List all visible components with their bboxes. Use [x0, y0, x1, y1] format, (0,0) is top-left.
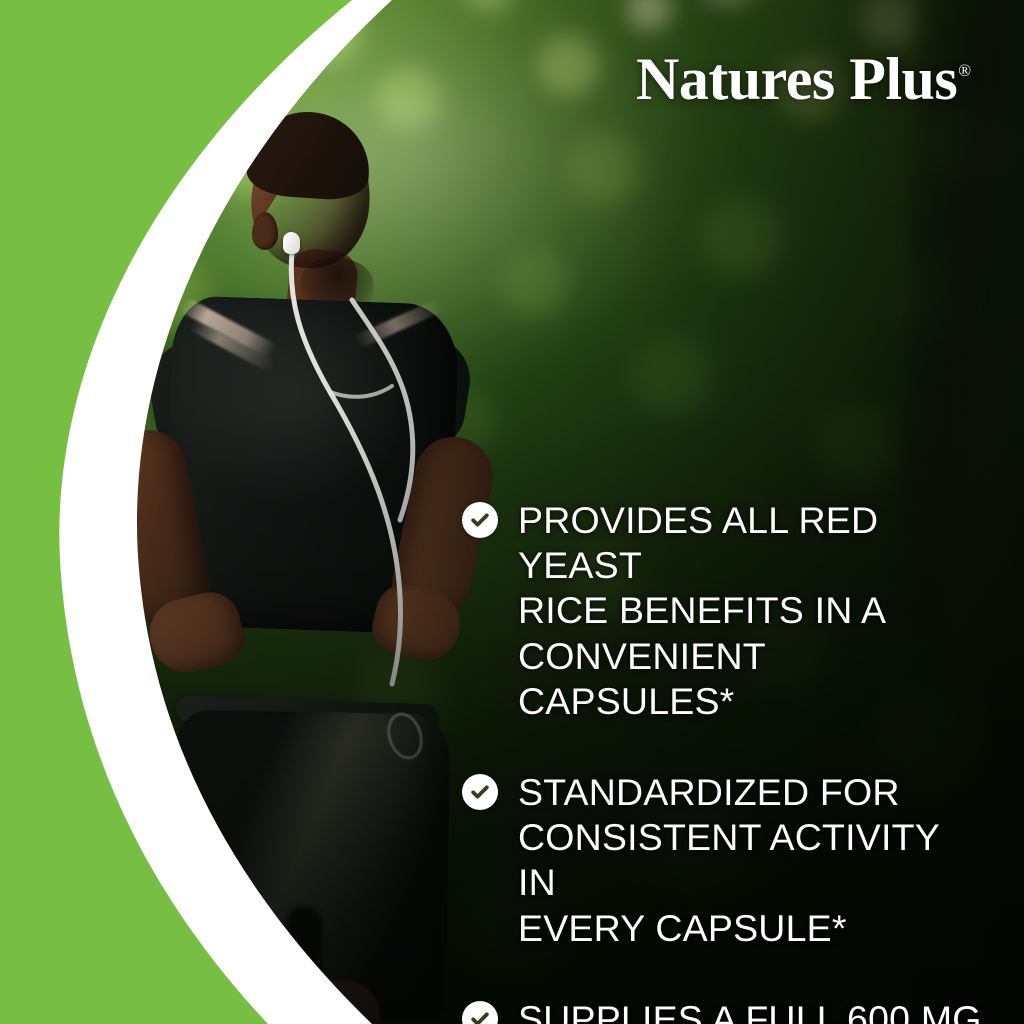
benefit-text: PROVIDES ALL RED YEAST RICE BENEFITS IN … [518, 498, 982, 724]
product-benefits-banner: Natures Plus® PROVIDES ALL RED YEAST RIC… [0, 0, 1024, 1024]
benefit-text: STANDARDIZED FOR CONSISTENT ACTIVITY IN … [518, 770, 982, 951]
check-circle-icon [462, 774, 498, 810]
benefits-list: PROVIDES ALL RED YEAST RICE BENEFITS IN … [462, 498, 982, 1024]
benefit-item: PROVIDES ALL RED YEAST RICE BENEFITS IN … [462, 498, 982, 724]
check-circle-icon [462, 502, 498, 538]
benefit-item: SUPPLIES A FULL 600 MG IN EACH SERVING [462, 997, 982, 1024]
benefit-item: STANDARDIZED FOR CONSISTENT ACTIVITY IN … [462, 770, 982, 951]
brand-logo-text: Natures Plus [636, 46, 957, 112]
check-circle-icon [462, 1001, 498, 1024]
brand-logo: Natures Plus® [636, 49, 970, 109]
benefit-text: SUPPLIES A FULL 600 MG IN EACH SERVING [518, 997, 982, 1024]
registered-trademark-icon: ® [958, 61, 970, 80]
